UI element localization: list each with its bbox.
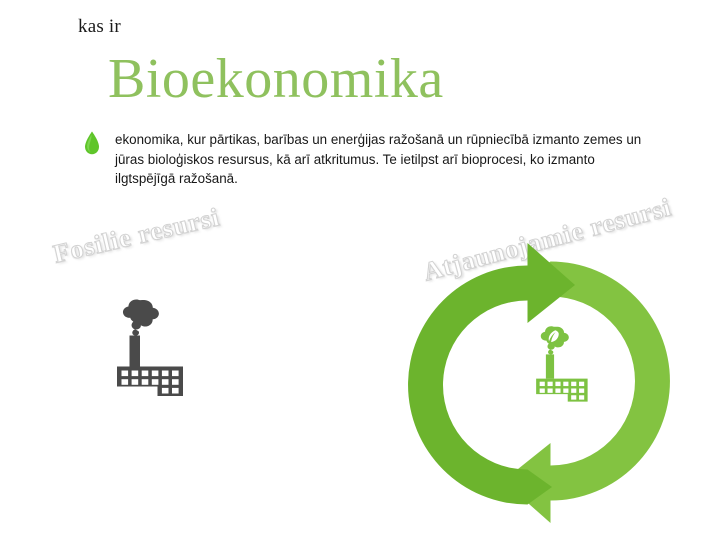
green-drop-icon [84,131,100,155]
recycling-arrows-icon [398,243,680,523]
green-factory-icon [536,326,587,401]
definition-text: ekonomika, kur pārtikas, barības un ener… [115,130,643,189]
page-kicker: kas ir [78,16,121,38]
page-title: Bioekonomika [108,48,444,110]
label-fossil-resources: Fosilie resursi [51,202,223,269]
definition-block: ekonomika, kur pārtikas, barības un ener… [84,130,644,189]
slide-canvas: kas ir Bioekonomika ekonomika, kur pārti… [0,0,720,540]
gray-factory-icon [104,285,208,397]
